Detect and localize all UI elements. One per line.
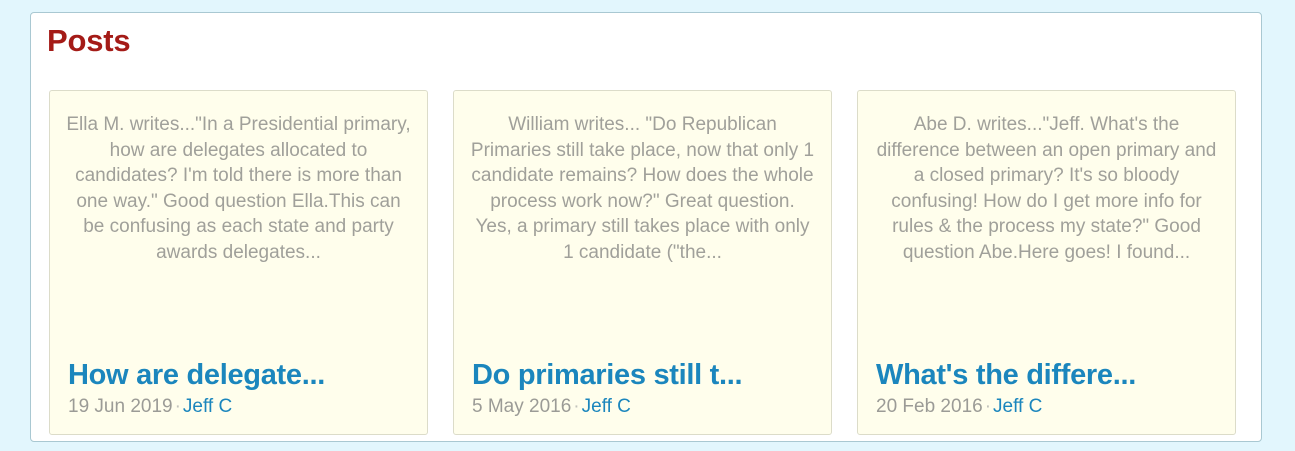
post-excerpt: William writes... "Do Republican Primari… <box>470 112 815 265</box>
post-author-link[interactable]: Jeff C <box>183 396 232 417</box>
post-card[interactable]: William writes... "Do Republican Primari… <box>453 90 832 435</box>
post-author-link[interactable]: Jeff C <box>993 396 1042 417</box>
post-meta: 19 Jun 2019·Jeff C <box>68 394 413 420</box>
post-excerpt: Abe D. writes..."Jeff. What's the differ… <box>874 112 1219 265</box>
post-card[interactable]: Abe D. writes..."Jeff. What's the differ… <box>857 90 1236 435</box>
post-date: 20 Feb 2016 <box>876 396 983 417</box>
post-date: 19 Jun 2019 <box>68 396 173 417</box>
post-title-link[interactable]: Do primaries still t... <box>472 358 817 392</box>
post-title-link[interactable]: What's the differe... <box>876 358 1221 392</box>
meta-separator: · <box>571 396 581 417</box>
meta-separator: · <box>983 396 993 417</box>
post-author-link[interactable]: Jeff C <box>582 396 631 417</box>
post-footer: Do primaries still t... 5 May 2016·Jeff … <box>472 358 817 420</box>
posts-card-list: Ella M. writes..."In a Presidential prim… <box>49 90 1247 435</box>
post-excerpt: Ella M. writes..."In a Presidential prim… <box>66 112 411 265</box>
post-footer: What's the differe... 20 Feb 2016·Jeff C <box>876 358 1221 420</box>
post-meta: 5 May 2016·Jeff C <box>472 394 817 420</box>
post-title-link[interactable]: How are delegate... <box>68 358 413 392</box>
post-footer: How are delegate... 19 Jun 2019·Jeff C <box>68 358 413 420</box>
post-date: 5 May 2016 <box>472 396 571 417</box>
post-meta: 20 Feb 2016·Jeff C <box>876 394 1221 420</box>
meta-separator: · <box>173 396 183 417</box>
posts-panel: Posts Ella M. writes..."In a Presidentia… <box>30 12 1262 442</box>
page-title: Posts <box>47 21 130 61</box>
post-card[interactable]: Ella M. writes..."In a Presidential prim… <box>49 90 428 435</box>
